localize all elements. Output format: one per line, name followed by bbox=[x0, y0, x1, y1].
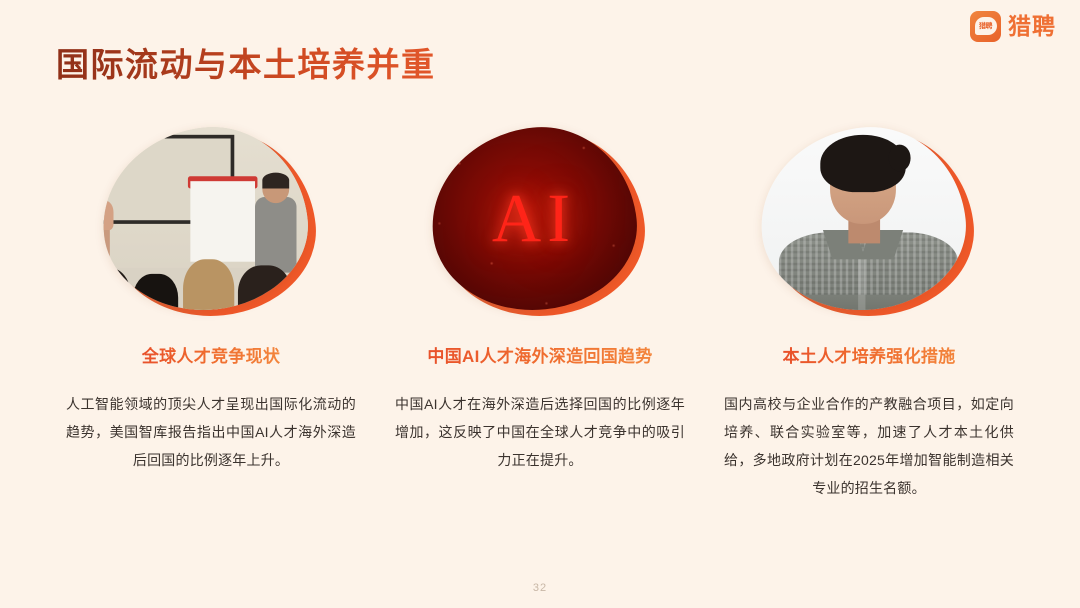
students-row bbox=[94, 232, 316, 320]
raised-hand-shape bbox=[94, 201, 113, 230]
page-number: 32 bbox=[0, 582, 1080, 594]
page-title: 国际流动与本土培养并重 bbox=[56, 44, 436, 85]
brand-logo: 猎聘 猎聘 bbox=[970, 9, 1056, 43]
teacher-hair-shape bbox=[262, 172, 289, 188]
card-heading-3: 本土人才培养强化措施 bbox=[783, 346, 956, 368]
liepin-logo-icon: 猎聘 bbox=[970, 11, 1001, 42]
card-body-3: 国内高校与企业合作的产教融合项目，如定向培养、联合实验室等，加速了人才本土化供给… bbox=[724, 390, 1014, 502]
photo-ai: AI bbox=[423, 118, 645, 320]
hair-shape bbox=[821, 135, 906, 193]
card-heading-2: 中国AI人才海外深造回国趋势 bbox=[427, 346, 652, 368]
brand-name: 猎聘 bbox=[1008, 15, 1056, 38]
content-columns: 全球人才竞争现状 人工智能领域的顶尖人才呈现出国际化流动的趋势，美国智库报告指出… bbox=[0, 128, 1080, 502]
speech-bubble-icon: 猎聘 bbox=[975, 17, 997, 35]
ai-scene: AI bbox=[423, 118, 645, 320]
student-4-head bbox=[237, 266, 292, 321]
card-body-2: 中国AI人才在海外深造后选择回国的比例逐年增加，这反映了中国在全球人才竞争中的吸… bbox=[395, 390, 685, 474]
card-body-1: 人工智能领域的顶尖人才呈现出国际化流动的趋势，美国智库报告指出中国AI人才海外深… bbox=[66, 390, 356, 474]
brand-mark-text: 猎聘 bbox=[979, 23, 992, 30]
column-global-talent-competition: 全球人才竞争现状 人工智能领域的顶尖人才呈现出国际化流动的趋势，美国智库报告指出… bbox=[52, 128, 370, 502]
student-1-head bbox=[94, 267, 130, 320]
blob-image-1 bbox=[103, 128, 319, 318]
student-2-head bbox=[133, 273, 178, 320]
slide-root: 猎聘 猎聘 国际流动与本土培养并重 bbox=[0, 0, 1080, 608]
classroom-scene bbox=[94, 118, 316, 320]
column-local-talent-measures: 本土人才培养强化措施 国内高校与企业合作的产教融合项目，如定向培养、联合实验室等… bbox=[710, 128, 1028, 502]
blob-image-3 bbox=[761, 128, 977, 318]
column-ai-talent-return-trend: AI 中国AI人才海外深造回国趋势 中国AI人才在海外深造后选择回国的比例逐年增… bbox=[381, 128, 699, 502]
photo-portrait bbox=[752, 118, 974, 320]
portrait-scene bbox=[752, 118, 974, 320]
photo-classroom bbox=[94, 118, 316, 320]
shirt-placket-shape bbox=[858, 250, 865, 320]
ai-label: AI bbox=[423, 180, 645, 258]
card-heading-1: 全球人才竞争现状 bbox=[142, 346, 280, 368]
blob-image-2: AI bbox=[432, 128, 648, 318]
